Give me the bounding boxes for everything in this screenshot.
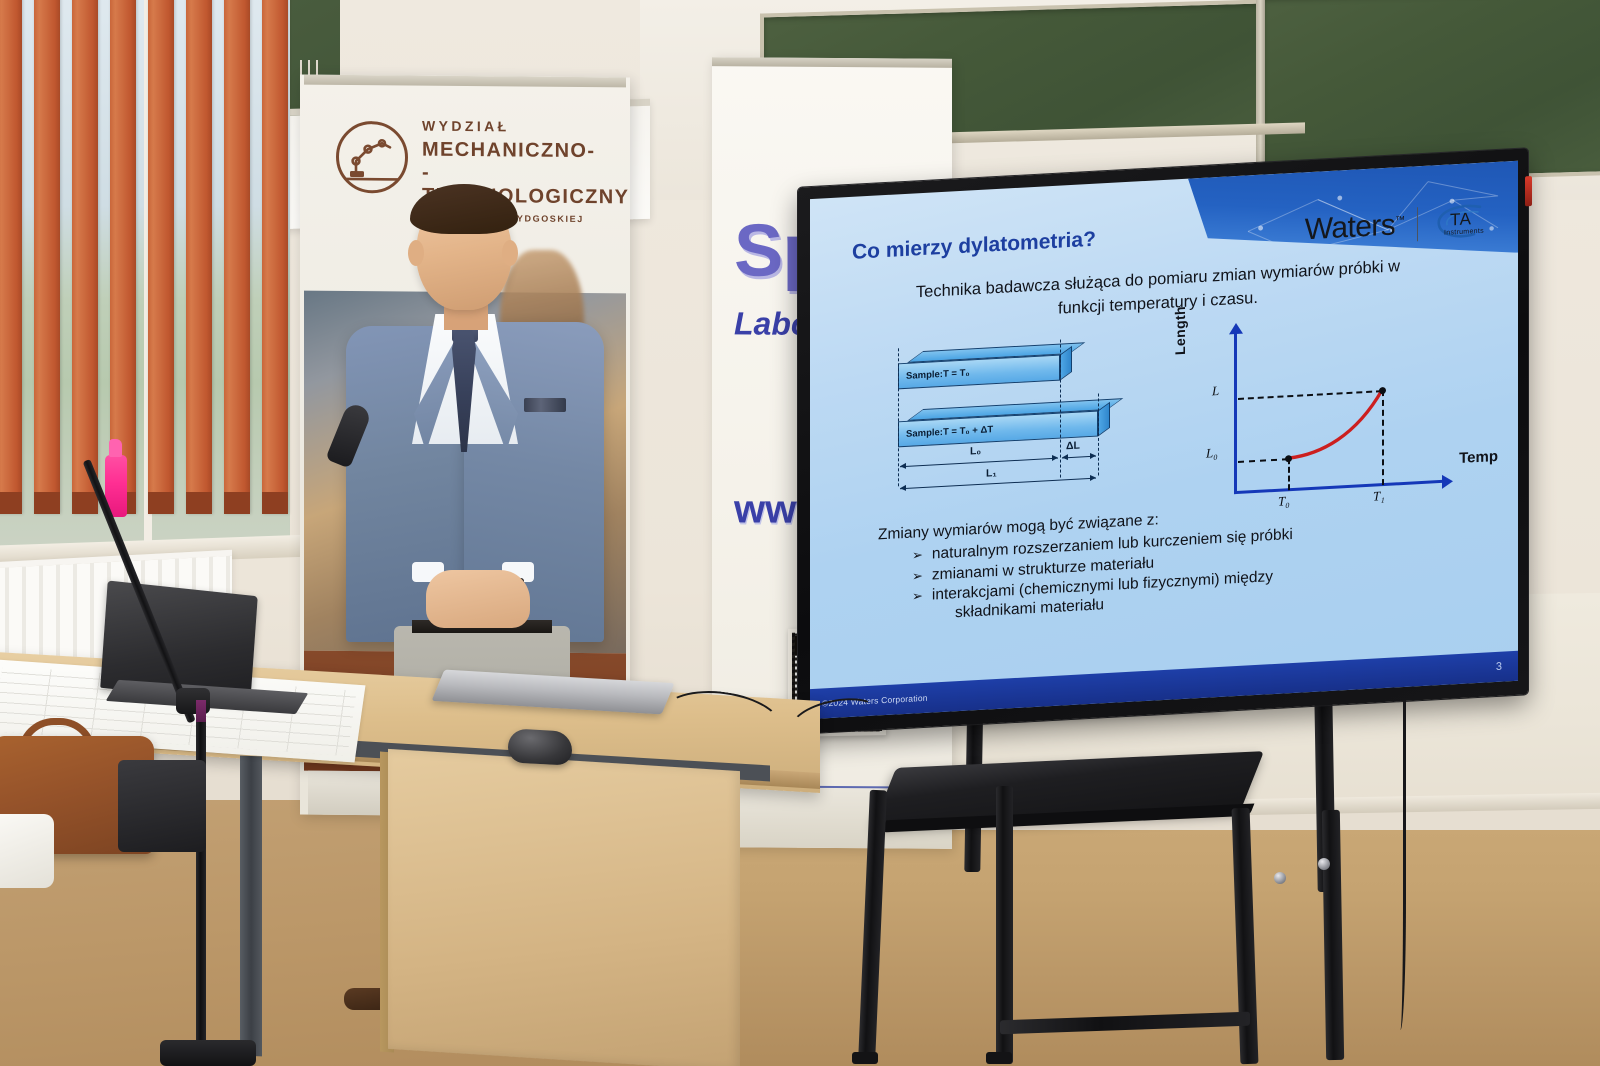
chart-marker-end [1379,386,1386,393]
slide-number: 3 [1496,661,1502,673]
chart-y-axis-label: Length [1172,306,1188,356]
microphone-stand-accent [196,700,206,722]
chart-curve [1188,314,1456,519]
chalkboard-divider [1256,0,1265,182]
logo-divider [1417,207,1419,241]
cart-bolt-1 [1274,872,1286,884]
hair [410,184,518,234]
display-monitor[interactable]: Co mierzy dylatometria? Waters™ TA Instr… [798,148,1528,734]
microphone-stand-base [160,1040,256,1066]
power-led-icon [1525,176,1532,206]
length-vs-temp-chart: Length Temp L L₀ T₀ T₁ [1188,314,1456,519]
dim-label-dL: ΔL [1066,439,1080,452]
desk-leg-left [240,756,262,1057]
display-power-cable [1392,700,1406,1030]
trademark-icon: ™ [1395,215,1404,227]
bullet-arrow-icon: ➢ [912,566,923,587]
ear-left [408,240,424,266]
pocket-square [524,398,566,412]
cart-bolt-2 [1318,858,1330,870]
cart-foot-left [852,1052,878,1064]
presenter [352,186,614,706]
chart-marker-start [1285,455,1292,462]
computer-mouse[interactable] [508,728,572,765]
dim-label-L1: L₁ [986,467,997,480]
photo-scene: WYDZIAŁ MECHANICZNO- -TECHNOLOGICZNY POL… [0,0,1600,1066]
cart-foot-mid [986,1052,1012,1064]
slide-bullet-list: Zmiany wymiarów mogą być związane z: ➢ n… [878,495,1438,628]
white-bag [0,814,54,888]
ear-right [502,240,518,266]
sample-expansion-diagram: Sample:T = T₀ Sample:T = T₀ + ΔT L₀ ΔL L… [890,334,1160,519]
dark-bag [118,760,206,852]
window-blinds[interactable] [0,0,294,554]
slide-title: Co mierzy dylatometria? [852,228,1096,265]
waters-wordmark: Waters™ [1305,208,1405,247]
bullet-arrow-icon: ➢ [912,545,923,566]
banner-top-rail [304,75,626,88]
chart-x-axis-label: Temp [1459,448,1498,467]
dim-label-L0: L₀ [970,445,981,458]
chart-y-tick-L: L [1212,383,1219,399]
ta-instruments-logo: TA Instruments [1430,200,1492,243]
robot-arm-icon [336,121,408,194]
bullet-arrow-icon: ➢ [912,586,923,607]
desk-modesty-panel [388,749,740,1066]
banner2-rail [712,57,952,68]
presentation-slide: Co mierzy dylatometria? Waters™ TA Instr… [810,161,1518,719]
clasped-hands [426,570,530,628]
banner-line1: WYDZIAŁ [422,118,622,136]
ta-text: TA [1450,209,1471,230]
banner-line2: MECHANICZNO- [422,139,622,164]
chart-y-tick-L0: L₀ [1206,445,1218,462]
microphone-stand-pole [196,700,206,1066]
